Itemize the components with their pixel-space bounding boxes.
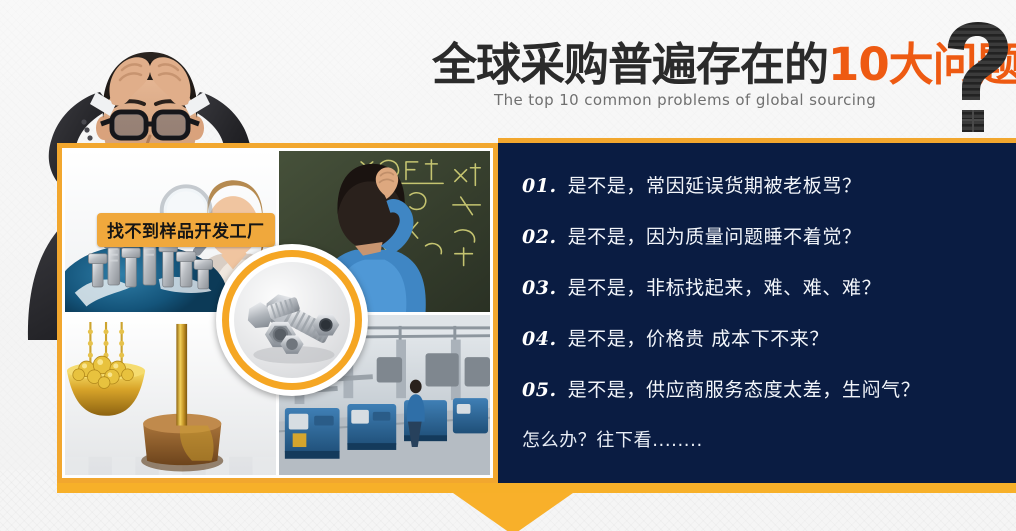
down-arrow-indicator [453,493,573,531]
list-item-number: 02. [522,226,557,248]
bolts-and-nuts-photo [234,262,350,378]
list-item-number: 01. [522,175,557,197]
list-item-text: 是不是，因为质量问题睡不着觉？ [568,222,862,249]
list-item: 02. 是不是，因为质量问题睡不着觉？ [522,222,1002,249]
collage-label-0: 找不到样品开发工厂 [97,213,275,247]
closing-text: 怎么办？往下看........ [522,426,1002,452]
list-item-text: 是不是，供应商服务态度太差，生闷气？ [568,375,921,402]
list-item-text: 是不是，价格贵 成本下不来？ [568,324,829,351]
page-title: 全球采购普遍存在的 10大问题 The top 10 common proble… [432,42,1012,142]
list-item: 03. 是不是，非标找起来，难、难、难？ [522,273,1002,300]
problem-list-panel: 01. 是不是，常因延误货期被老板骂？ 02. 是不是，因为质量问题睡不着觉？ … [498,143,1016,483]
list-item: 04. 是不是，价格贵 成本下不来？ [522,324,1002,351]
image-collage: 找不到样品开发工厂 [57,143,498,483]
page-subtitle: The top 10 common problems of global sou… [494,91,1012,109]
title-main-text: 全球采购普遍存在的 [432,42,828,87]
page-root: 全球采购普遍存在的 10大问题 The top 10 common proble… [0,0,1016,531]
list-item-text: 是不是，常因延误货期被老板骂？ [568,171,862,198]
list-item-text: 是不是，非标找起来，难、难、难？ [568,273,882,300]
footer-accent-bar [57,483,1016,493]
circle-orange-ring [222,250,362,390]
list-item-number: 03. [522,277,557,299]
center-circle-inset [216,244,368,396]
problem-list: 01. 是不是，常因延误货期被老板骂？ 02. 是不是，因为质量问题睡不着觉？ … [522,171,1002,452]
list-item: 05. 是不是，供应商服务态度太差，生闷气？ [522,375,1002,402]
list-item: 01. 是不是，常因延误货期被老板骂？ [522,171,1002,198]
list-item-number: 05. [522,379,557,401]
list-item-number: 04. [522,328,557,350]
question-mark-icon [938,22,1012,134]
